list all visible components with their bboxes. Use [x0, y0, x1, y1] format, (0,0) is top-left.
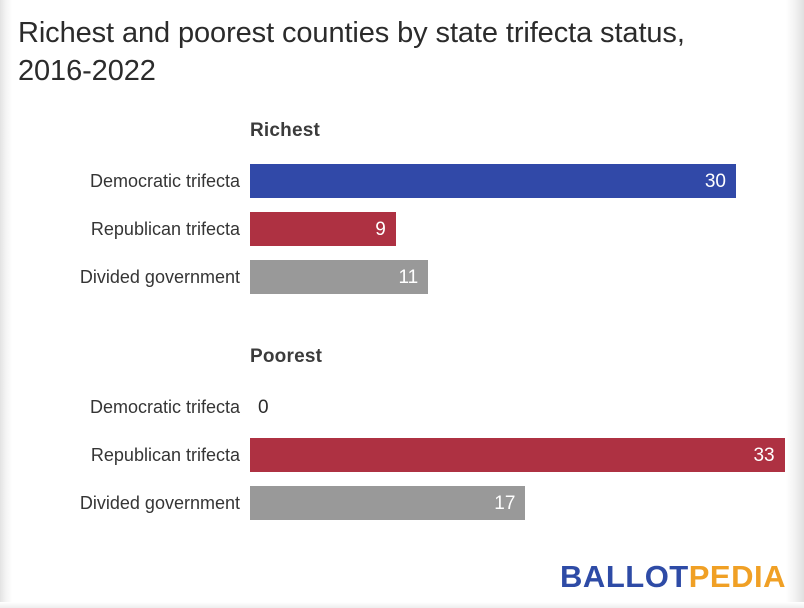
group-header-poorest: Poorest	[250, 346, 322, 368]
logo-text-ballot: BALLOT	[560, 559, 689, 594]
category-label: Democratic trifecta	[0, 390, 240, 424]
bar-value-label: 33	[753, 446, 774, 465]
bar-track: 11	[250, 260, 804, 294]
bar-richest-divided[interactable]: 11	[250, 260, 428, 294]
bar-poorest-democratic[interactable]: 0	[250, 390, 258, 424]
bar-value-label: 11	[398, 268, 418, 287]
bar-track: 0	[250, 390, 804, 424]
bar-value-label: 17	[494, 494, 515, 513]
bar-track: 30	[250, 164, 804, 198]
category-label: Republican trifecta	[0, 438, 240, 472]
bar-track: 33	[250, 438, 804, 472]
bar-list-richest: Democratic trifecta 30 Republican trifec…	[0, 164, 804, 308]
ballotpedia-logo: BALLOTPEDIA	[560, 561, 786, 592]
category-label: Republican trifecta	[0, 212, 240, 246]
bar-row: Republican trifecta 9	[0, 212, 804, 246]
bar-value-label: 9	[375, 220, 386, 239]
category-label: Divided government	[0, 260, 240, 294]
bar-row: Divided government 17	[0, 486, 804, 520]
bar-row: Democratic trifecta 0	[0, 390, 804, 424]
bar-track: 9	[250, 212, 804, 246]
bar-row: Republican trifecta 33	[0, 438, 804, 472]
bar-poorest-republican[interactable]: 33	[250, 438, 785, 472]
bottom-edge-shading	[0, 602, 804, 608]
logo-text-pedia: PEDIA	[689, 559, 786, 594]
bar-richest-democratic[interactable]: 30	[250, 164, 736, 198]
bar-track: 17	[250, 486, 804, 520]
bar-value-label: 0	[258, 398, 269, 417]
category-label: Divided government	[0, 486, 240, 520]
bar-poorest-divided[interactable]: 17	[250, 486, 525, 520]
group-header-richest: Richest	[250, 120, 320, 142]
chart-canvas: Richest and poorest counties by state tr…	[0, 0, 804, 608]
category-label: Democratic trifecta	[0, 164, 240, 198]
bar-row: Democratic trifecta 30	[0, 164, 804, 198]
bar-list-poorest: Democratic trifecta 0 Republican trifect…	[0, 390, 804, 534]
page-title: Richest and poorest counties by state tr…	[18, 14, 758, 90]
bar-value-label: 30	[705, 172, 726, 191]
bar-row: Divided government 11	[0, 260, 804, 294]
bar-richest-republican[interactable]: 9	[250, 212, 396, 246]
